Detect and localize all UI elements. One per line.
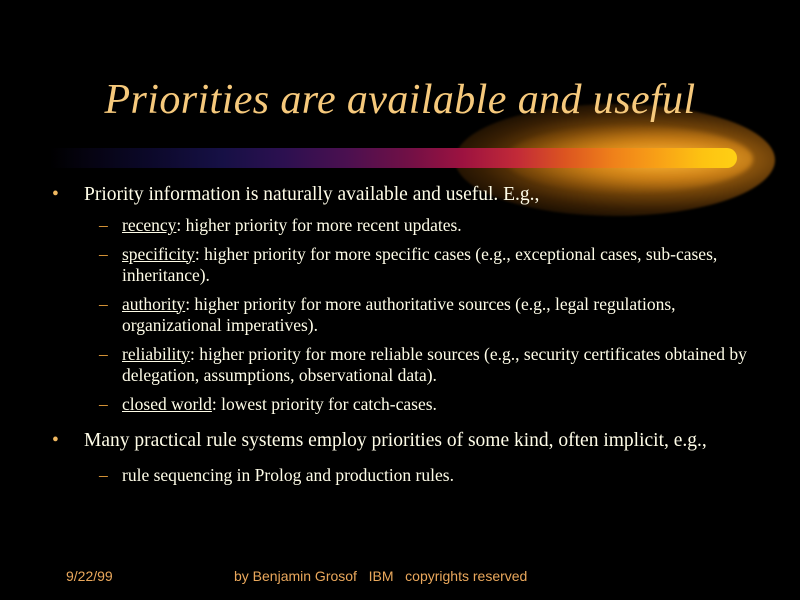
bullet-dot-icon: • <box>52 428 59 453</box>
sub-bullet-authority-text: : higher priority for more authoritative… <box>122 294 676 336</box>
footer-date: 9/22/99 <box>66 565 113 587</box>
sub-bullet-recency: – recency: higher priority for more rece… <box>0 215 800 237</box>
sub-bullet-closed-world-lead: closed world <box>122 394 212 414</box>
sub-bullet-specificity-lead: specificity <box>122 244 195 264</box>
bullet-dot-icon: • <box>52 182 59 207</box>
dash-icon: – <box>99 215 108 237</box>
dash-icon: – <box>99 344 108 366</box>
bullet-item-1-text: Priority information is naturally availa… <box>84 184 539 205</box>
dash-icon: – <box>99 244 108 266</box>
sub-bullet-specificity-text: : higher priority for more specific case… <box>122 244 717 286</box>
spacer <box>0 455 800 465</box>
dash-icon: – <box>99 294 108 316</box>
sub-bullet-closed-world: – closed world: lowest priority for catc… <box>0 394 800 416</box>
sub-bullet-specificity: – specificity: higher priority for more … <box>0 244 800 287</box>
slide-title: Priorities are available and useful <box>0 76 800 124</box>
sub-bullet-recency-lead: recency <box>122 215 176 235</box>
gradient-accent-bar <box>50 148 737 168</box>
sub-bullet-authority: – authority: higher priority for more au… <box>0 294 800 337</box>
bullet-item-2-text: Many practical rule systems employ prior… <box>84 430 707 451</box>
dash-icon: – <box>99 465 108 487</box>
sub-bullet-rule-sequencing: – rule sequencing in Prolog and producti… <box>0 465 800 487</box>
sub-bullet-reliability-text: : higher priority for more reliable sour… <box>122 344 747 386</box>
slide-canvas: Priorities are available and useful • Pr… <box>0 0 800 600</box>
footer-credit: by Benjamin Grosof IBM copyrights reserv… <box>234 565 527 587</box>
sub-bullet-rule-sequencing-text: rule sequencing in Prolog and production… <box>122 465 454 485</box>
dash-icon: – <box>99 394 108 416</box>
bullet-item-2: • Many practical rule systems employ pri… <box>0 428 800 453</box>
bullet-item-1: • Priority information is naturally avai… <box>0 182 800 207</box>
sub-bullet-reliability: – reliability: higher priority for more … <box>0 344 800 387</box>
slide-footer: 9/22/99 by Benjamin Grosof IBM copyright… <box>0 565 800 589</box>
sub-bullet-reliability-lead: reliability <box>122 344 190 364</box>
sub-bullet-closed-world-text: : lowest priority for catch-cases. <box>212 394 437 414</box>
sub-bullet-recency-text: : higher priority for more recent update… <box>176 215 461 235</box>
slide-body: • Priority information is naturally avai… <box>0 182 800 494</box>
sub-bullet-authority-lead: authority <box>122 294 185 314</box>
